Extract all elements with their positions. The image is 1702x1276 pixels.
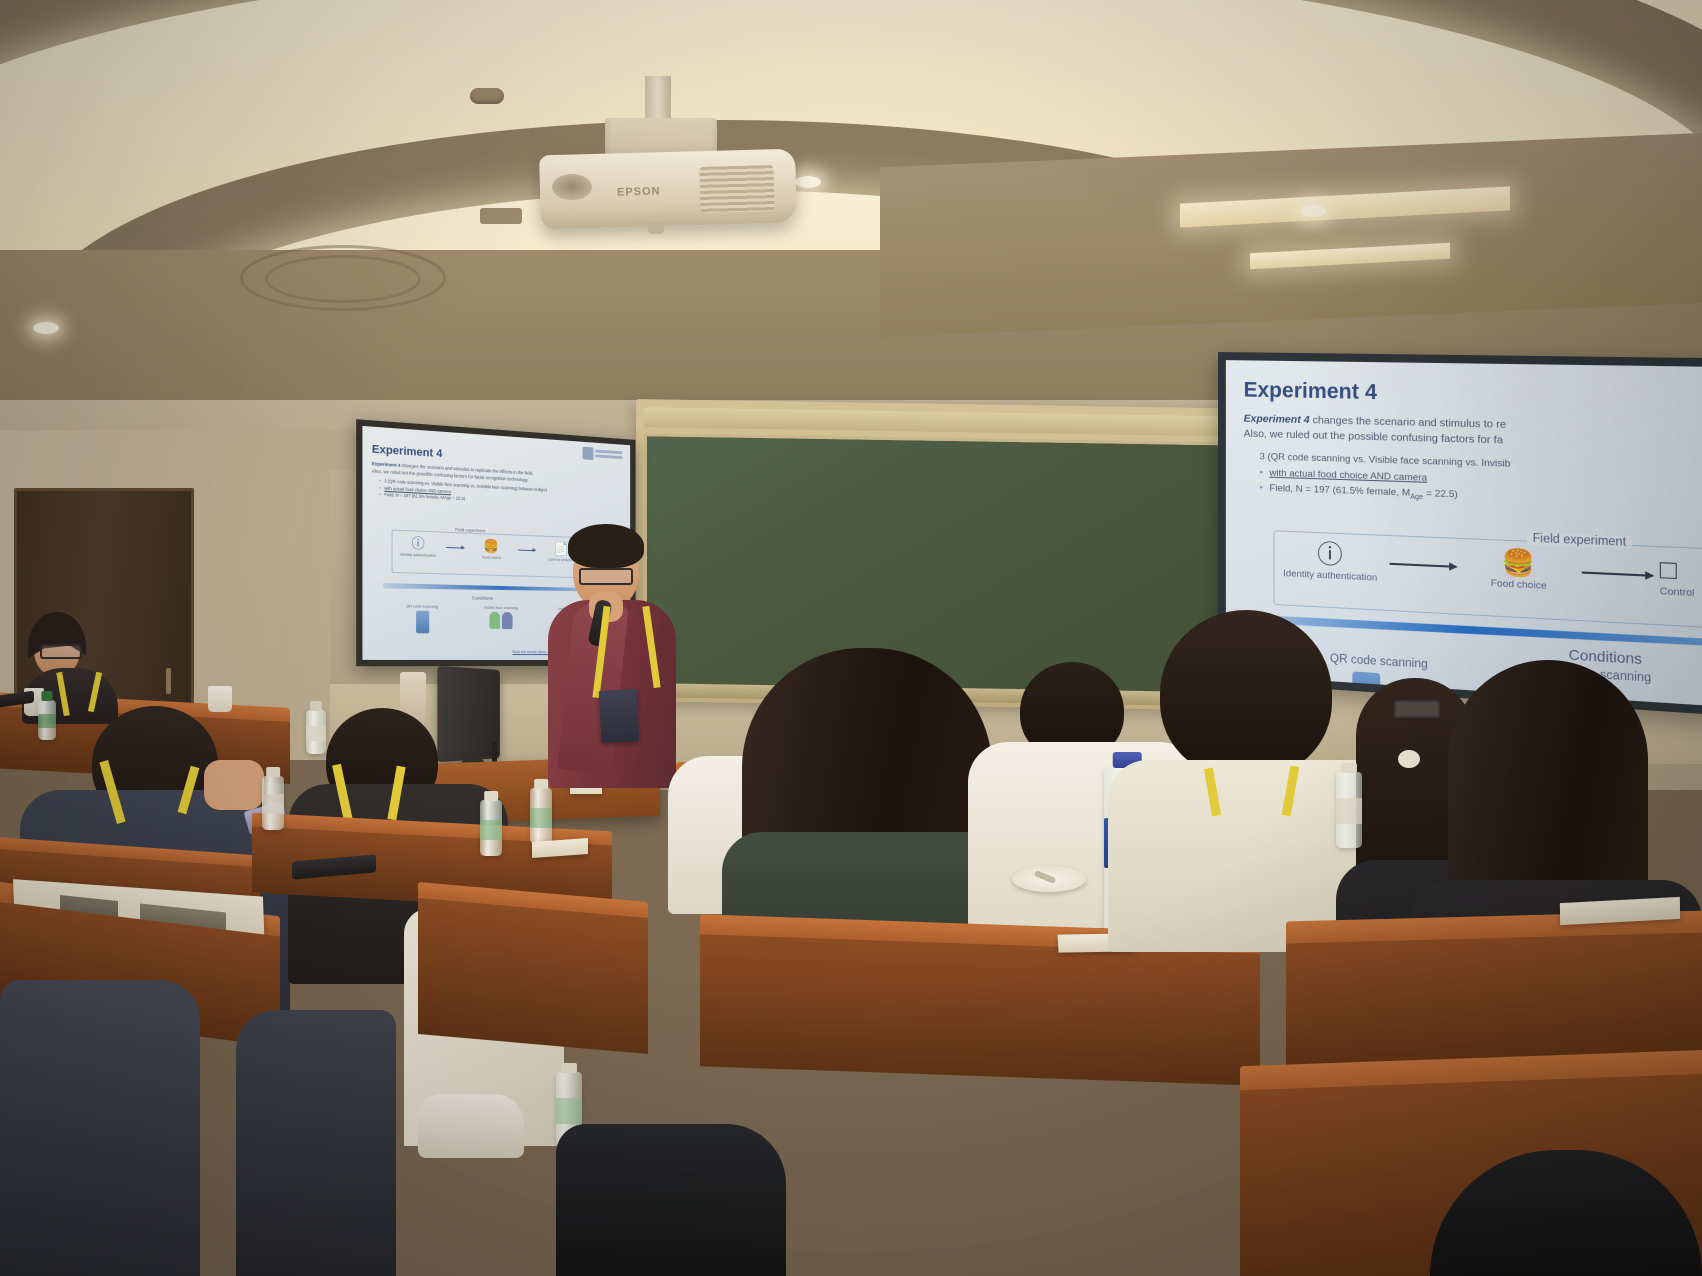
condition-label: QR code scanning <box>386 604 457 609</box>
water-bottle <box>480 800 502 856</box>
water-bottle <box>38 700 56 740</box>
arrow-right-icon <box>1390 563 1457 568</box>
food-choice-icon: 🍔 <box>1502 548 1536 579</box>
flow-step: 🍔 Food choice <box>468 537 514 561</box>
control-icon: □ <box>1660 555 1677 586</box>
audience-glasses <box>40 644 82 659</box>
condition-label: QR code scanning <box>1330 653 1428 671</box>
ceiling-downlight <box>795 176 821 188</box>
audience-hand <box>204 760 264 810</box>
conditions-caption: Conditions <box>1569 646 1642 667</box>
slide-right-lead: Experiment 4 changes the scenario and st… <box>1244 412 1702 455</box>
food-choice-icon: 🍔 <box>484 538 500 554</box>
condition-label: Visible face scanning <box>467 605 534 610</box>
audience-legs <box>236 1010 396 1276</box>
condition-item: Visible face scanning <box>467 605 534 639</box>
water-bottle <box>530 788 552 844</box>
arrow-right-icon <box>518 549 535 551</box>
condition-item: QR code scanning <box>386 604 457 639</box>
projector-mount-pole <box>645 76 671 122</box>
lecture-hall-photo: EPSON Experiment 4 Experiment 4 changes … <box>0 0 1702 1276</box>
projector-brand-label: EPSON <box>617 185 661 198</box>
water-bottle <box>1336 772 1362 848</box>
door-handle-icon[interactable] <box>166 668 171 694</box>
phone-scan-icon <box>416 611 429 634</box>
flow-step: ⓘ Identity authentication <box>394 534 443 558</box>
conference-badge <box>599 689 640 743</box>
identity-auth-icon: ⓘ <box>1317 540 1342 570</box>
arrow-right-icon <box>446 546 464 548</box>
audience-legs <box>0 980 200 1276</box>
paper-cup <box>208 686 232 712</box>
presenter-hair <box>568 524 644 568</box>
conditions-caption: Conditions <box>472 595 493 600</box>
projector-foot <box>648 222 664 234</box>
ceiling-downlight <box>33 322 59 334</box>
projector-vent <box>699 165 774 213</box>
slide-right-title: Experiment 4 <box>1244 378 1702 412</box>
projector-lens <box>552 174 592 200</box>
smoke-detector-icon <box>470 88 504 104</box>
chair-back <box>556 1124 786 1276</box>
audience-head <box>1160 610 1332 778</box>
desk <box>418 898 648 1054</box>
slide-right-bullets: 3 (QR code scanning vs. Visible face sca… <box>1260 450 1702 515</box>
university-logo <box>583 447 624 462</box>
water-bottle <box>262 776 284 830</box>
desk <box>700 934 1260 1086</box>
audience-shoe <box>418 1094 524 1158</box>
chalkboard-top-rail <box>644 407 1256 437</box>
hair-clip-icon <box>1398 750 1420 768</box>
visible-face-icon <box>489 612 512 629</box>
ceiling-fixture <box>480 208 522 224</box>
flow-step: 🍔 Food choice <box>1463 546 1575 593</box>
ceiling-downlight <box>1300 205 1326 217</box>
flow-step: ⓘ Identity authentication <box>1277 539 1383 585</box>
podium-monitor <box>437 666 499 762</box>
flow-step: □ Control <box>1660 555 1702 602</box>
presenter-glasses <box>579 568 633 585</box>
camera-presence-icon: 📄 <box>554 541 569 556</box>
arrow-right-icon <box>1582 572 1653 577</box>
audience-glasses <box>1394 700 1440 718</box>
identity-auth-icon: ⓘ <box>411 535 424 551</box>
water-bottle <box>306 710 326 754</box>
